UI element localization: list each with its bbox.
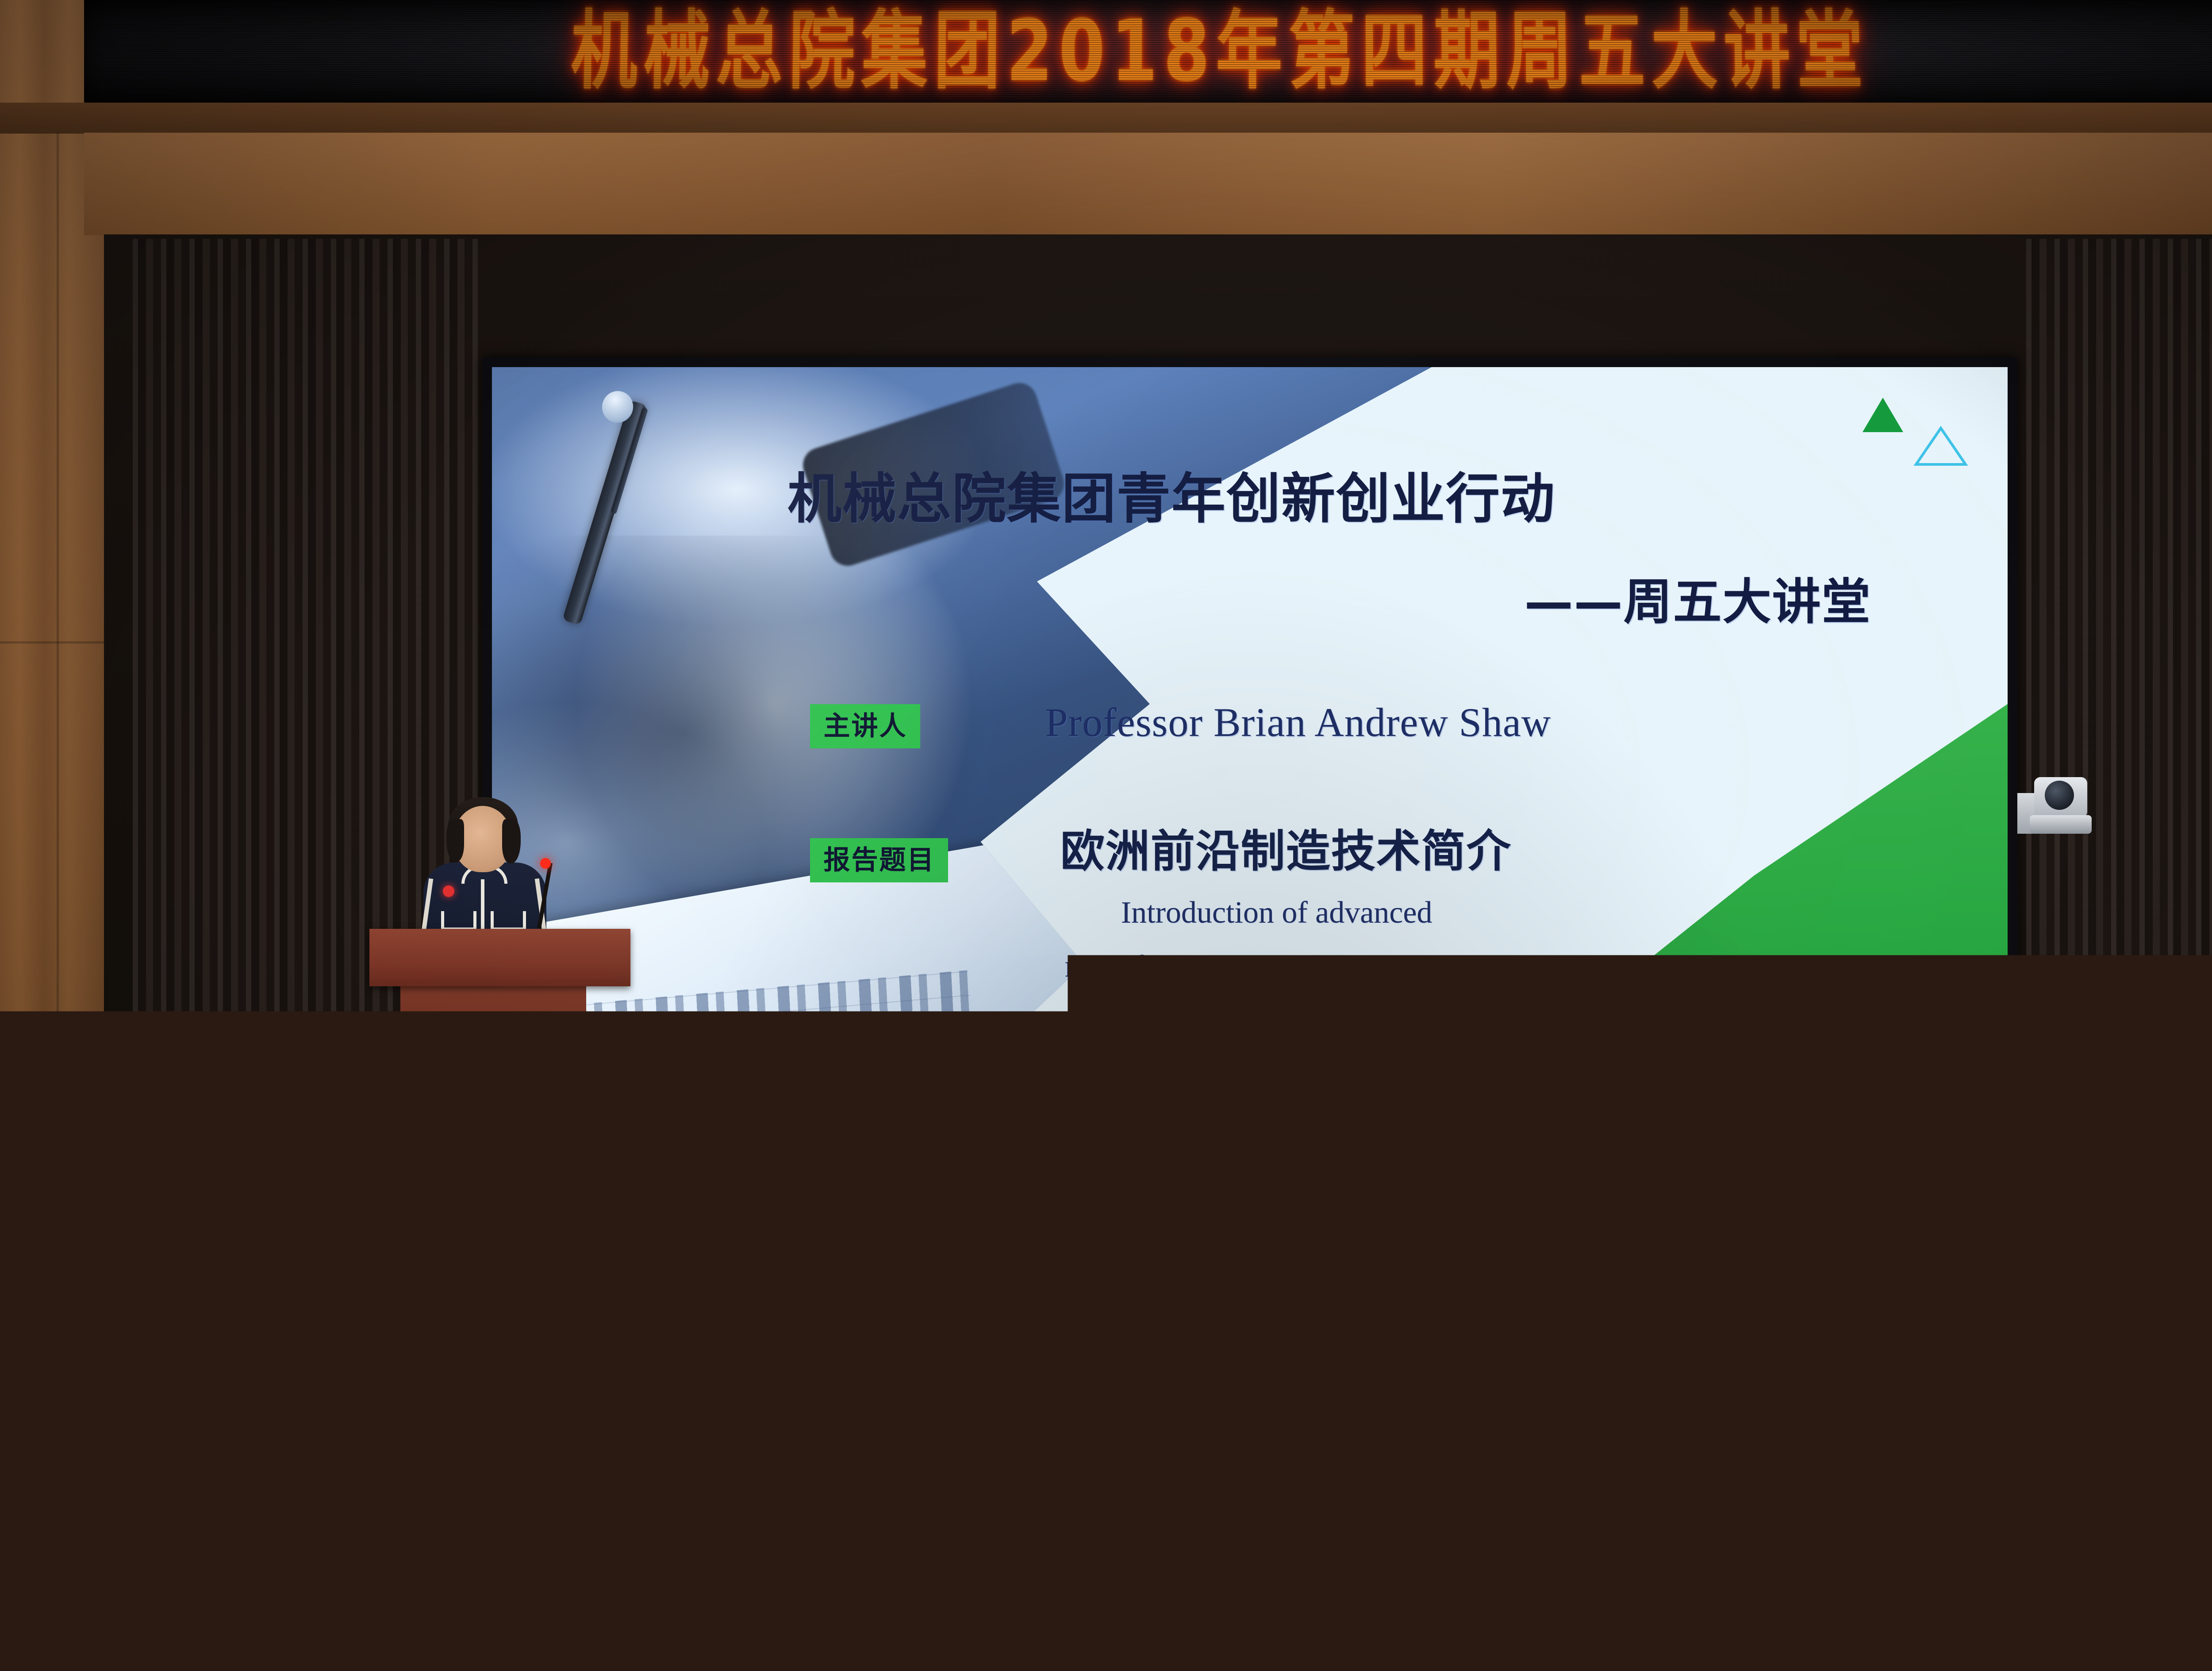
water-bottle [1454, 1501, 1491, 1627]
ptz-camera-icon [2017, 767, 2101, 843]
speaker-name: Professor Brian Andrew Shaw [1045, 699, 1551, 746]
water-bottle [2002, 1514, 2039, 1640]
projection-screen-frame: 机械总院集团青年创新创业行动 ——周五大讲堂 主讲人 Professor Bri… [482, 357, 2017, 1142]
topic-title-en-line2: manufacturing technology in Europe [1065, 949, 1520, 985]
microphone-led [540, 858, 551, 869]
lecture-hall-photo: 机械总院集团2018年第四期周五大讲堂 [0, 0, 2212, 1671]
led-banner: 机械总院集团2018年第四期周五大讲堂 [84, 0, 2212, 103]
audience-head [1491, 1442, 1655, 1588]
audience-person-r1-d [2146, 1389, 2212, 1671]
ponytail [1951, 1274, 2013, 1460]
audience-head [659, 1362, 841, 1548]
presenter-hair-left [446, 819, 464, 862]
bottle-cap [2010, 1514, 2032, 1537]
topic-title-cn: 欧洲前沿制造技术简介 [1060, 815, 1512, 879]
bottle-cap [2200, 1075, 2212, 1088]
audience-person-r1-b [566, 1362, 938, 1671]
audience-person-r5-a [566, 1053, 664, 1106]
wall-seam-left [57, 133, 59, 1194]
curtain-right [2026, 239, 2212, 1141]
bottle-cap [1271, 1079, 1284, 1093]
bottle-neck [1273, 1092, 1282, 1100]
notepad-on-desk [354, 1637, 451, 1662]
wall-upper-band [84, 133, 2212, 235]
bottle-neck [2202, 1087, 2211, 1096]
audience-torso [1088, 1341, 1336, 1527]
desk-row-1 [0, 1619, 2212, 1656]
bottle-logo-icon [467, 1587, 478, 1597]
audience-person-r4-b [664, 1053, 810, 1185]
slide-title: 机械总院集团青年创新创业行动 [787, 455, 1555, 533]
long-hair [0, 1437, 265, 1671]
audience-person-r2-f [1805, 1212, 2062, 1513]
audience-person-r5-b [801, 1053, 907, 1115]
audience-head [904, 1119, 995, 1215]
podium-top [369, 929, 630, 986]
bottle-cap [642, 1212, 657, 1227]
led-banner-text: 机械总院集团2018年第四期周五大讲堂 [570, 9, 1870, 94]
audience-head [195, 1119, 283, 1213]
water-bottle [637, 1212, 662, 1296]
ceiling-soffit [0, 103, 2212, 134]
bottle-logo-icon [2015, 1592, 2027, 1602]
audience-torso [566, 1053, 664, 1111]
topic-label-tag: 报告题目 [810, 838, 948, 882]
lapel-badge [443, 885, 454, 897]
bottle-cap [1462, 1501, 1483, 1523]
bottle-cap [462, 1511, 483, 1533]
audience-head [1610, 1115, 1702, 1211]
camera-lens [2045, 781, 2074, 810]
audience-head [1511, 1243, 1628, 1366]
audience-torso [1473, 1053, 1579, 1123]
bottle-neck [1644, 1222, 1654, 1231]
bottle-logo-icon [645, 1264, 653, 1271]
keys-on-desk [1340, 1437, 1389, 1457]
bottle-logo-icon [1424, 1425, 1433, 1432]
audience-head [1255, 1101, 1353, 1202]
projection-screen: 机械总院集团青年创新创业行动 ——周五大讲堂 主讲人 Professor Bri… [492, 367, 2008, 1133]
jacket-pocket-left [441, 911, 476, 931]
speaker-label-tag: 主讲人 [810, 704, 920, 748]
bottle-neck [1422, 1381, 1433, 1392]
audience-torso [2146, 1526, 2212, 1671]
audience-head [298, 1053, 369, 1109]
camera-base [2030, 815, 2092, 834]
audience-area [0, 1053, 2212, 1671]
audience-head [512, 1106, 605, 1203]
wall-seam-horizontal [0, 641, 111, 644]
slide-text-layer: 机械总院集团青年创新创业行动 ——周五大讲堂 主讲人 Professor Bri… [492, 367, 2008, 1133]
topic-title-en-line1: Introduction of advanced [1121, 895, 1432, 931]
slide-subtitle: ——周五大讲堂 [1525, 562, 1871, 633]
audience-torso [1805, 1331, 2062, 1522]
bottle-neck [1465, 1522, 1480, 1537]
bottle-logo-icon [2203, 1122, 2210, 1128]
water-bottle [454, 1511, 490, 1633]
bottle-neck [465, 1532, 480, 1546]
audience-head [1033, 1053, 1106, 1115]
audience-person-r1-a [0, 1384, 292, 1671]
water-bottle [2196, 1075, 2212, 1150]
jacket-placket-trim [481, 879, 484, 937]
bottle-cap [1642, 1207, 1656, 1223]
audience-head [429, 1216, 551, 1345]
audience-torso [801, 1053, 907, 1122]
bottle-neck [645, 1226, 654, 1236]
bottle-neck [2014, 1535, 2028, 1550]
audience-person-r2-d [1088, 1225, 1336, 1513]
presenter-hair-right [502, 819, 521, 863]
bottle-logo-icon [1467, 1579, 1479, 1589]
audience-person-r5-d [1473, 1053, 1579, 1115]
jacket-pocket-right [491, 911, 526, 931]
audience-head [802, 1238, 916, 1360]
audience-head [1151, 1225, 1271, 1353]
desk-front-row-1 [0, 1655, 2212, 1671]
bottle-cap [1420, 1365, 1436, 1382]
